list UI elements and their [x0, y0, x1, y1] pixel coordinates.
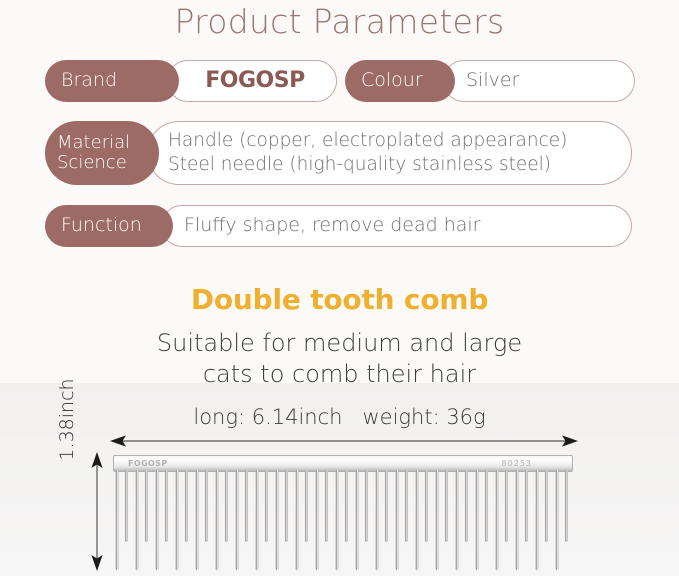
subheadline: Suitable for medium and large cats to co… [0, 328, 679, 390]
spec-label-colour: Colour [345, 60, 455, 102]
subheadline-line1: Suitable for medium and large [0, 328, 679, 359]
comb-teeth [113, 470, 573, 576]
spec-label-brand: Brand [45, 60, 179, 102]
spec-row-colour: Colour Silver [345, 60, 635, 102]
handle-model-engraving: 80253 [502, 457, 532, 471]
brand-logo-text: FOGOSP [205, 68, 304, 93]
height-dimension-arrow [88, 452, 106, 571]
spec-label-material-science: Material Science [45, 121, 159, 185]
spec-label-function: Function [45, 205, 173, 247]
spec-value-function: Fluffy shape, remove dead hair [161, 205, 632, 247]
spec-label-material-line2: Science [57, 153, 127, 173]
spec-value-brand: FOGOSP [167, 60, 337, 102]
headline-double-tooth-comb: Double tooth comb [0, 283, 679, 316]
spec-row-function: Function Fluffy shape, remove dead hair [45, 205, 632, 247]
dimension-length-weight-text: long: 6.14inch weight: 36g [0, 405, 679, 429]
dimension-height-text: 1.38inch [56, 362, 78, 477]
spec-value-material-line1: Handle (copper, electroplated appearance… [168, 129, 567, 153]
comb-product-image: FOGOSP 80253 [113, 455, 573, 576]
spec-value-material-science: Handle (copper, electroplated appearance… [147, 121, 632, 185]
spec-value-colour: Silver [443, 60, 635, 102]
spec-label-material-line1: Material [57, 133, 130, 153]
spec-row-material-science: Material Science Handle (copper, electro… [45, 121, 632, 185]
spec-row-brand: Brand FOGOSP [45, 60, 337, 102]
page-title: Product Parameters [0, 2, 679, 41]
spec-value-material-line2: Steel needle (high-quality stainless ste… [168, 153, 551, 177]
length-dimension-arrow [110, 432, 578, 450]
handle-brand-engraving: FOGOSP [128, 457, 168, 471]
